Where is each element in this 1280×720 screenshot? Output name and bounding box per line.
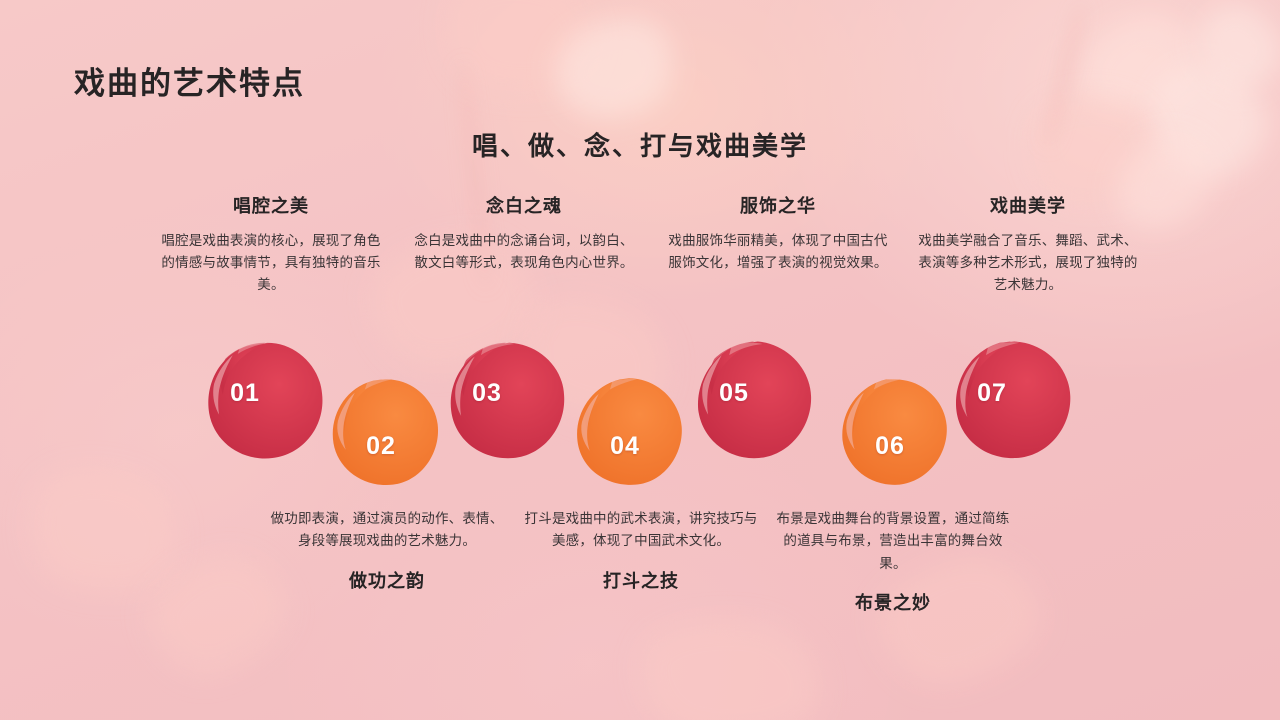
feature-card-7[interactable]: 戏曲美学 戏曲美学融合了音乐、舞蹈、武术、表演等多种艺术形式，展现了独特的艺术魅… bbox=[913, 196, 1143, 296]
blossom-petal-icon bbox=[634, 611, 826, 720]
number-circle-04[interactable]: 04 bbox=[573, 376, 685, 488]
feature-card-1-heading: 唱腔之美 bbox=[156, 196, 386, 218]
number-circle-03-label: 03 bbox=[472, 379, 502, 408]
feature-card-3-body: 念白是戏曲中的念诵台词，以韵白、散文白等形式，表现角色内心世界。 bbox=[409, 230, 639, 275]
feature-card-4-body: 打斗是戏曲中的武术表演，讲究技巧与美感，体现了中国武术文化。 bbox=[522, 508, 760, 553]
blossom-petal-icon bbox=[541, 0, 689, 138]
feature-card-5-heading: 服饰之华 bbox=[663, 196, 893, 218]
feature-card-3[interactable]: 念白之魂 念白是戏曲中的念诵台词，以韵白、散文白等形式，表现角色内心世界。 bbox=[409, 196, 639, 274]
feature-card-6-heading: 布景之妙 bbox=[773, 593, 1013, 615]
feature-card-2[interactable]: 做功即表演，通过演员的动作、表情、身段等展现戏曲的艺术魅力。 做功之韵 bbox=[268, 508, 506, 592]
slide-subtitle: 唱、做、念、打与戏曲美学 bbox=[0, 126, 1280, 163]
feature-card-6-body: 布景是戏曲舞台的背景设置，通过简练的道具与布景，营造出丰富的舞台效果。 bbox=[773, 508, 1013, 575]
number-circle-05[interactable]: 05 bbox=[692, 339, 816, 463]
blossom-petal-icon bbox=[1135, 52, 1280, 192]
number-circle-01-label: 01 bbox=[230, 379, 260, 408]
feature-card-4[interactable]: 打斗是戏曲中的武术表演，讲究技巧与美感，体现了中国武术文化。 打斗之技 bbox=[522, 508, 760, 592]
brush-circle-icon bbox=[203, 339, 327, 463]
blossom-petal-icon bbox=[435, 0, 607, 108]
feature-card-5-body: 戏曲服饰华丽精美，体现了中国古代服饰文化，增强了表演的视觉效果。 bbox=[663, 230, 893, 275]
background-gradient bbox=[0, 0, 1280, 720]
feature-card-1-body: 唱腔是戏曲表演的核心，展现了角色的情感与故事情节，具有独特的音乐美。 bbox=[156, 230, 386, 297]
feature-card-7-body: 戏曲美学融合了音乐、舞蹈、武术、表演等多种艺术形式，展现了独特的艺术魅力。 bbox=[913, 230, 1143, 297]
feature-card-6[interactable]: 布景是戏曲舞台的背景设置，通过简练的道具与布景，营造出丰富的舞台效果。 布景之妙 bbox=[773, 508, 1013, 614]
number-circle-04-label: 04 bbox=[610, 432, 640, 461]
page-title: 戏曲的艺术特点 bbox=[74, 58, 305, 103]
feature-card-7-heading: 戏曲美学 bbox=[913, 196, 1143, 218]
feature-card-4-heading: 打斗之技 bbox=[522, 571, 760, 593]
brush-circle-icon bbox=[950, 339, 1074, 463]
number-circle-03[interactable]: 03 bbox=[445, 339, 569, 463]
feature-card-5[interactable]: 服饰之华 戏曲服饰华丽精美，体现了中国古代服饰文化，增强了表演的视觉效果。 bbox=[663, 196, 893, 274]
feature-card-3-heading: 念白之魂 bbox=[409, 196, 639, 218]
brush-circle-icon bbox=[692, 339, 816, 463]
feature-card-2-heading: 做功之韵 bbox=[268, 571, 506, 593]
number-circle-01[interactable]: 01 bbox=[203, 339, 327, 463]
feature-card-2-body: 做功即表演，通过演员的动作、表情、身段等展现戏曲的艺术魅力。 bbox=[268, 508, 506, 553]
number-circle-02-label: 02 bbox=[366, 432, 396, 461]
blossom-petal-icon bbox=[1069, 2, 1212, 127]
number-circle-07-label: 07 bbox=[977, 379, 1007, 408]
number-circle-07[interactable]: 07 bbox=[950, 339, 1074, 463]
slide-canvas: 戏曲的艺术特点 唱、做、念、打与戏曲美学 唱腔之美 唱腔是戏曲表演的核心，展现了… bbox=[0, 0, 1280, 720]
blossom-petal-icon bbox=[14, 452, 192, 611]
number-circle-06[interactable]: 06 bbox=[838, 376, 950, 488]
brush-circle-icon bbox=[445, 339, 569, 463]
feature-card-1[interactable]: 唱腔之美 唱腔是戏曲表演的核心，展现了角色的情感与故事情节，具有独特的音乐美。 bbox=[156, 196, 386, 296]
blossom-petal-icon bbox=[1181, 0, 1280, 105]
number-circle-02[interactable]: 02 bbox=[329, 376, 441, 488]
background-decoration bbox=[0, 0, 1280, 720]
number-circle-05-label: 05 bbox=[719, 379, 749, 408]
number-circle-06-label: 06 bbox=[875, 432, 905, 461]
